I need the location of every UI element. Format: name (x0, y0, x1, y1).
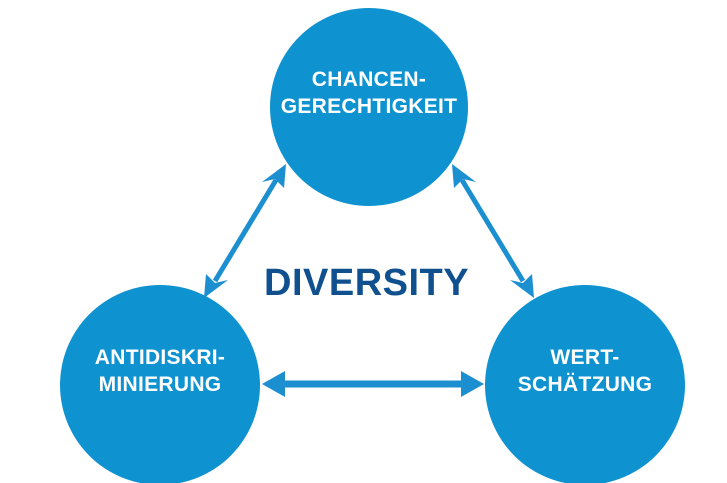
diversity-diagram: CHANCEN- GERECHTIGKEIT ANTIDISKRI- MINIE… (0, 0, 727, 483)
arrowhead-left (262, 371, 285, 397)
node-circle-chancengerechtigkeit[interactable] (270, 8, 468, 206)
diagram-shapes-layer (0, 0, 727, 483)
arrowhead-right (461, 371, 484, 397)
connector-bottom-horizontal-arrow (262, 371, 484, 397)
node-circle-wertschaetzung[interactable] (485, 285, 685, 483)
node-circle-antidiskriminierung[interactable] (60, 285, 260, 483)
center-title-diversity: DIVERSITY (264, 264, 464, 302)
